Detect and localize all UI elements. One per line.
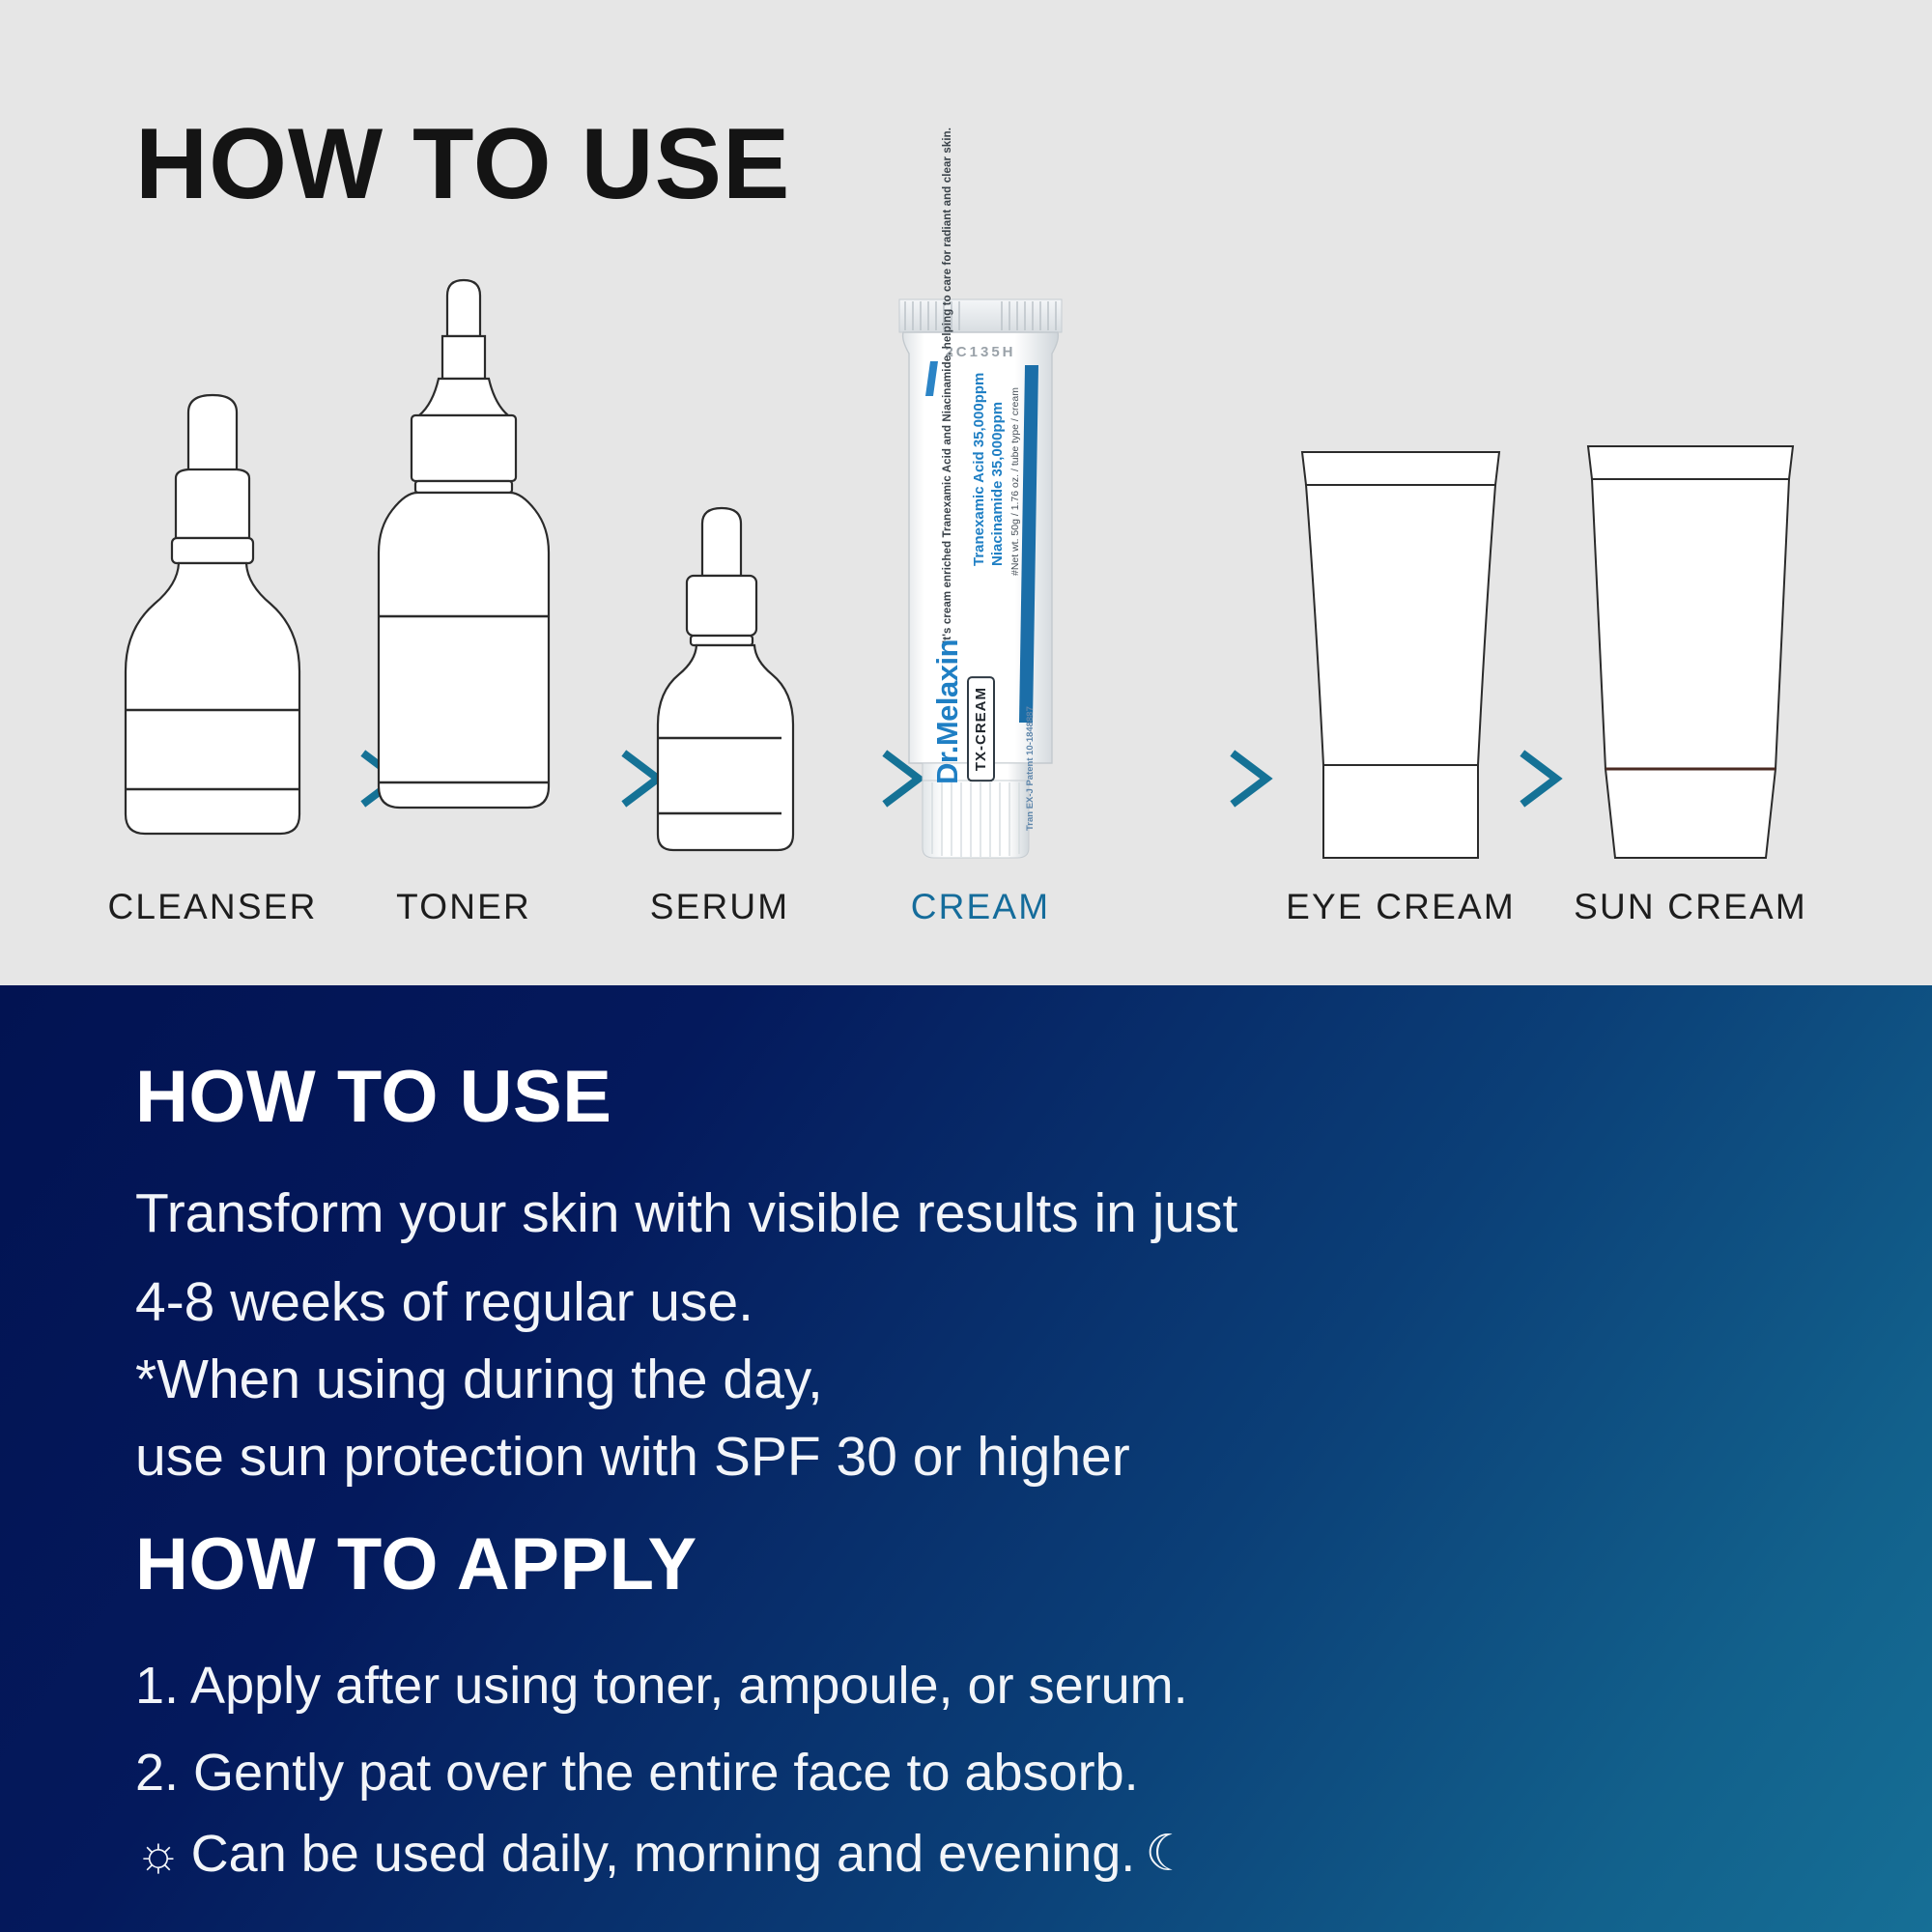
tube-brand-name: Dr.Melaxin: [930, 639, 965, 784]
tube-description: It's cream enriched Tranexamic Acid and …: [942, 373, 953, 643]
routine-step-sun-cream[interactable]: SUN CREAM: [1565, 328, 1816, 927]
routine-step-cream[interactable]: 2C135H It's cream enriched Tranexamic Ac…: [855, 328, 1106, 927]
routine-step-label: TONER: [396, 887, 531, 927]
cream-tube-illustration: 2C135H It's cream enriched Tranexamic Ac…: [855, 328, 1106, 862]
routine-step-label: SERUM: [650, 887, 790, 927]
routine-step-label: CLEANSER: [107, 887, 317, 927]
apply-step: 2. Gently pat over the entire face to ab…: [135, 1747, 1139, 1799]
apply-step: 1. Apply after using toner, ampoule, or …: [135, 1660, 1188, 1712]
sun-cream-tube-illustration: [1565, 340, 1816, 862]
use-line: *When using during the day,: [135, 1352, 823, 1407]
page-title: HOW TO USE: [135, 114, 790, 214]
tube-ingredient-niacinamide: Niacinamide 35,000ppm: [989, 373, 1006, 566]
tube-net-weight: #Net wt. 50g / 1.76 oz. / tube type / cr…: [1009, 373, 1021, 576]
how-to-apply-heading: HOW TO APPLY: [135, 1528, 697, 1602]
use-line: Transform your skin with visible results…: [135, 1186, 1237, 1241]
infographic-page: HOW TO USE: [0, 0, 1932, 1932]
tube-batch-code: 2C135H: [855, 344, 1106, 360]
tube-ingredient-tranexamic: Tranexamic Acid 35,000ppm: [971, 373, 987, 566]
chevron-right-icon: [1222, 744, 1280, 813]
routine-strip: CLEANSER: [0, 290, 1932, 927]
use-line: 4-8 weeks of regular use.: [135, 1275, 753, 1330]
routine-step-toner[interactable]: TONER: [338, 328, 589, 927]
routine-step-label: SUN CREAM: [1574, 887, 1807, 927]
toner-bottle-illustration: [338, 328, 589, 862]
routine-step-eye-cream[interactable]: EYE CREAM: [1275, 328, 1526, 927]
tube-patent-text: Tran EX-J Patent 10-1848887: [1025, 715, 1036, 831]
use-line: use sun protection with SPF 30 or higher: [135, 1430, 1130, 1485]
routine-step-label: EYE CREAM: [1286, 887, 1516, 927]
cleanser-bottle-illustration: [87, 340, 338, 862]
serum-bottle-illustration: [594, 340, 845, 862]
moon-icon: ☾: [1145, 1829, 1190, 1879]
eye-cream-tube-illustration: [1275, 340, 1526, 862]
daily-use-note: ☼ Can be used daily, morning and evening…: [135, 1828, 1190, 1880]
routine-panel: HOW TO USE: [0, 0, 1932, 985]
daily-use-note-text: Can be used daily, morning and evening.: [191, 1828, 1136, 1880]
routine-step-serum[interactable]: SERUM: [594, 328, 845, 927]
how-to-use-heading: HOW TO USE: [135, 1061, 611, 1134]
sun-icon: ☼: [135, 1829, 182, 1879]
routine-step-cleanser[interactable]: CLEANSER: [87, 328, 338, 927]
tube-variant-badge: TX-CREAM: [967, 676, 995, 781]
instructions-panel: HOW TO USE Transform your skin with visi…: [0, 985, 1932, 1932]
routine-step-label: CREAM: [911, 887, 1051, 927]
chevron-right-icon: [1512, 744, 1570, 813]
